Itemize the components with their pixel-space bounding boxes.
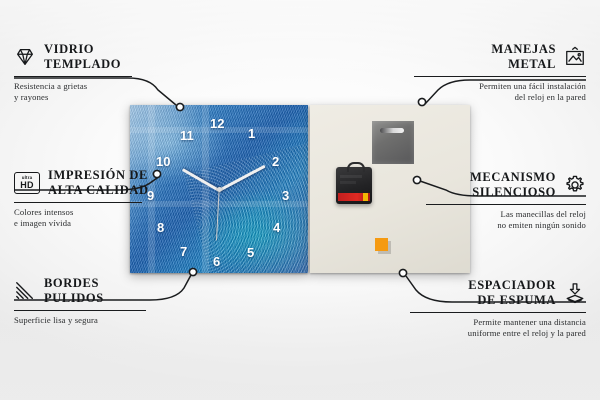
- callout-description: Las manecillas del reloj no emiten ningú…: [426, 209, 586, 232]
- ultra-hd-icon-main: HD: [20, 181, 34, 190]
- callout-title: IMPRESIÓN DE ALTA CALIDAD: [48, 168, 149, 198]
- callout-title: MANEJAS METAL: [491, 42, 556, 72]
- callout-description: Resistencia a grietas y rayones: [14, 81, 154, 104]
- callout-rule: [14, 76, 132, 78]
- clock-numeral: 7: [180, 245, 187, 258]
- callout-vidrio-templado: VIDRIO TEMPLADO Resistencia a grietas y …: [14, 42, 154, 104]
- callout-rule: [410, 312, 586, 314]
- picture-frame-icon: [564, 46, 586, 68]
- callout-description: Permite mantener una distancia uniforme …: [410, 317, 586, 340]
- callout-header: BORDES PULIDOS: [14, 276, 164, 306]
- callout-description: Superficie lisa y segura: [14, 315, 164, 326]
- clock-numeral: 1: [248, 127, 255, 140]
- clock-hand-hub: [217, 187, 222, 192]
- clock-numeral: 11: [180, 129, 194, 142]
- infographic-canvas: 12 1 2 3 4 5 6 7 8 9 10 11: [0, 0, 600, 400]
- callout-description: Colores intensos e imagen vívida: [14, 207, 164, 230]
- callout-title: MECANISMO SILENCIOSO: [470, 170, 556, 200]
- clock-numeral: 6: [213, 255, 220, 268]
- polished-edges-icon: [14, 280, 36, 302]
- callout-header: MECANISMO SILENCIOSO: [426, 170, 586, 200]
- foam-spacer-icon: [564, 282, 586, 304]
- gear-icon: [564, 174, 586, 196]
- callout-rule: [414, 76, 586, 78]
- movement-label: [338, 193, 370, 201]
- movement-detail: [340, 175, 362, 178]
- clock-numeral: 2: [272, 155, 279, 168]
- clock-numeral: 4: [273, 221, 280, 234]
- movement-hanging-loop: [347, 162, 365, 172]
- callout-rule: [14, 310, 146, 312]
- clock-numeral: 12: [210, 117, 224, 130]
- callout-header: VIDRIO TEMPLADO: [14, 42, 154, 72]
- callout-title: BORDES PULIDOS: [44, 276, 104, 306]
- clock-numeral: 3: [282, 189, 289, 202]
- callout-header: MANEJAS METAL: [414, 42, 586, 72]
- ultra-hd-icon: ultra HD: [14, 172, 40, 194]
- diamond-icon: [14, 46, 36, 68]
- callout-manejas-metal: MANEJAS METAL Permiten una fácil instala…: [414, 42, 586, 104]
- callout-header: ultra HD IMPRESIÓN DE ALTA CALIDAD: [14, 168, 164, 198]
- metal-hanger-plate: [372, 121, 414, 164]
- callout-title: VIDRIO TEMPLADO: [44, 42, 121, 72]
- clock-numeral: 10: [156, 155, 170, 168]
- callout-impresion-alta-calidad: ultra HD IMPRESIÓN DE ALTA CALIDAD Color…: [14, 168, 164, 230]
- hanger-keyhole-slot: [380, 128, 404, 133]
- foam-spacer: [375, 238, 388, 251]
- clock-numeral: 5: [247, 246, 254, 259]
- callout-rule: [426, 204, 586, 206]
- callout-espaciador-de-espuma: ESPACIADOR DE ESPUMA Permite mantener un…: [410, 278, 586, 340]
- movement-detail: [340, 181, 356, 184]
- callout-mecanismo-silencioso: MECANISMO SILENCIOSO Las manecillas del …: [426, 170, 586, 232]
- callout-bordes-pulidos: BORDES PULIDOS Superficie lisa y segura: [14, 276, 164, 326]
- clock-movement: [336, 167, 372, 204]
- callout-title: ESPACIADOR DE ESPUMA: [468, 278, 556, 308]
- product-image: 12 1 2 3 4 5 6 7 8 9 10 11: [130, 105, 470, 273]
- callout-description: Permiten una fácil instalación del reloj…: [414, 81, 586, 104]
- callout-header: ESPACIADOR DE ESPUMA: [410, 278, 586, 308]
- movement-label-chip: [363, 193, 368, 201]
- callout-rule: [14, 202, 142, 204]
